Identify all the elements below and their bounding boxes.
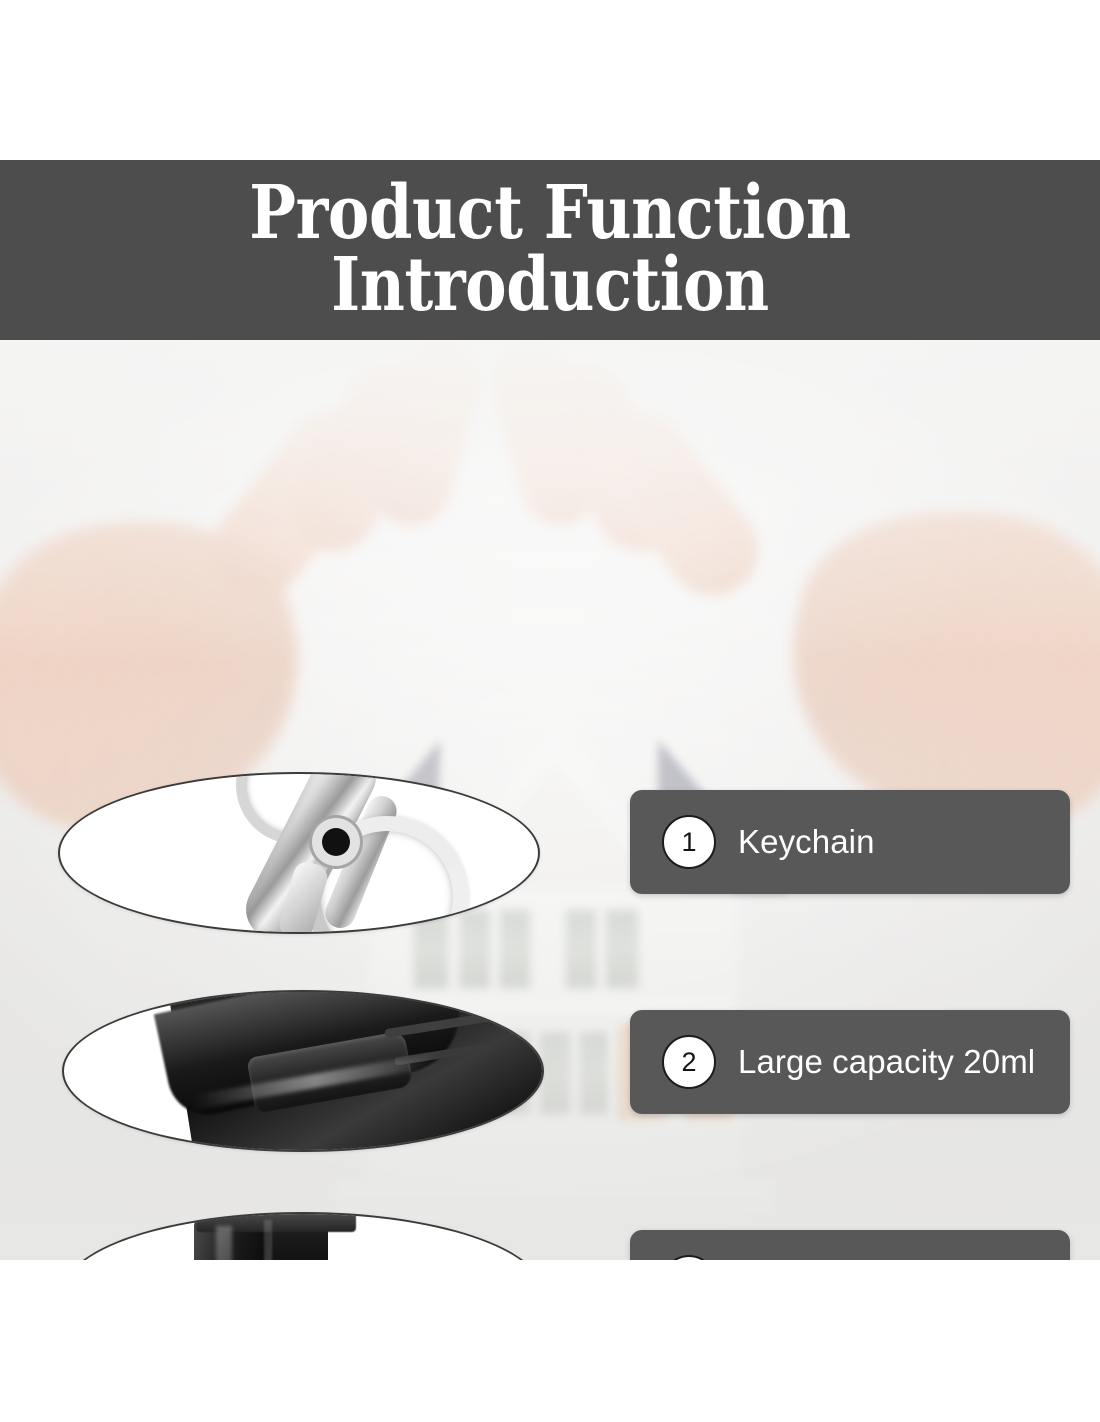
feature-number-badge-1: 1 (662, 815, 716, 869)
infographic-page: Product Function Introduction (0, 0, 1100, 1422)
top-white-margin (0, 0, 1100, 160)
nozzle-highlight (216, 1226, 232, 1260)
feature-label-3: 3 Press type nozzle (630, 1230, 1070, 1260)
product-photo-stage: 1 Keychain 2 Large capacity 20ml 3 Press… (0, 340, 1100, 1260)
header-banner: Product Function Introduction (0, 160, 1100, 340)
feature-image-keychain (58, 772, 540, 934)
feature-label-2: 2 Large capacity 20ml (630, 1010, 1070, 1114)
keychain-rivet (322, 828, 350, 856)
bottom-white-margin (0, 1260, 1100, 1422)
feature-number-badge-2: 2 (662, 1035, 716, 1089)
feature-image-nozzle (62, 1212, 544, 1260)
feature-label-1: 1 Keychain (630, 790, 1070, 894)
bottle-body-artwork (64, 992, 542, 1150)
nozzle-artwork (64, 1214, 542, 1260)
feature-label-text-1: Keychain (738, 823, 875, 861)
nozzle-edge (264, 1220, 272, 1260)
page-title: Product Function Introduction (241, 178, 859, 322)
feature-image-capacity (62, 990, 544, 1152)
feature-label-text-2: Large capacity 20ml (738, 1043, 1035, 1081)
keychain-artwork (60, 774, 538, 932)
